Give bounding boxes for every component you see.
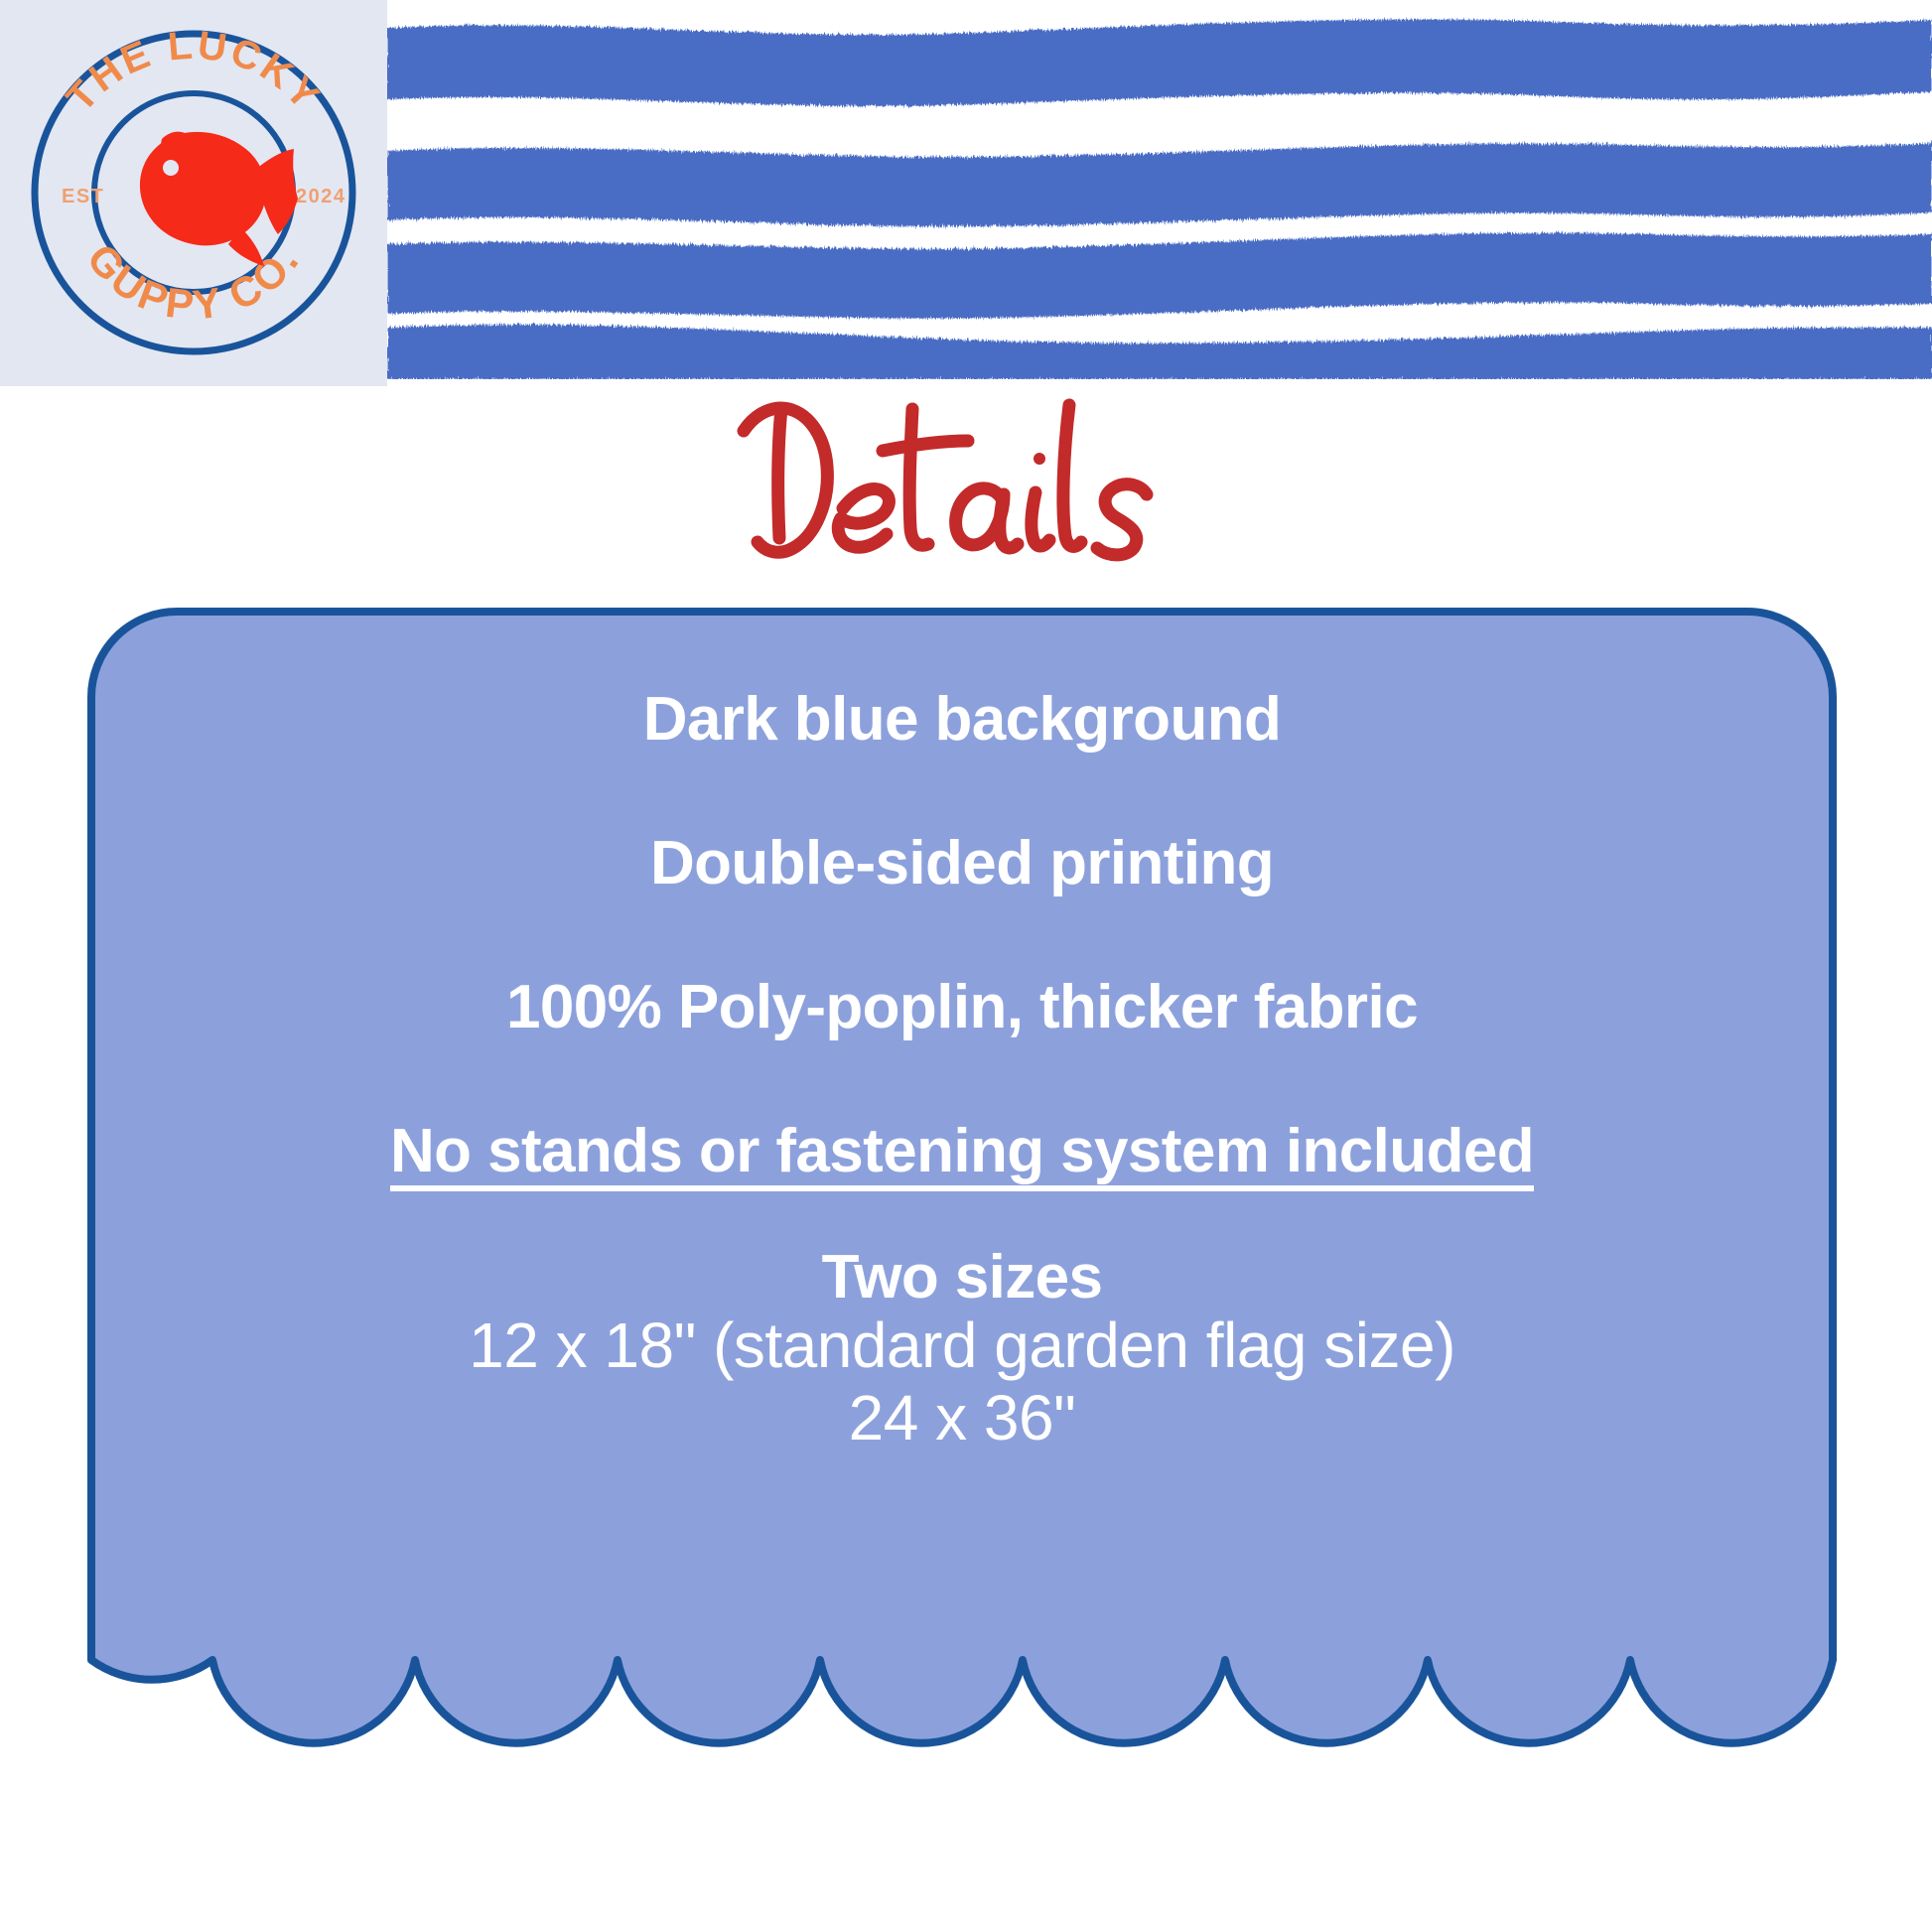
spec-item-no-stands: No stands or fastening system included xyxy=(105,1119,1819,1183)
card-content: Dark blue background Double-sided printi… xyxy=(87,608,1837,1844)
details-script-lettering xyxy=(744,405,1147,555)
sizes-title: Two sizes xyxy=(105,1247,1819,1309)
size-option-large: 24 x 36" xyxy=(105,1383,1819,1452)
product-detail-graphic: THE LUCKY GUPPY CO. EST 2024 xyxy=(0,0,1932,1932)
brand-logo-box: THE LUCKY GUPPY CO. EST 2024 xyxy=(0,0,387,386)
spec-item-fabric: 100% Poly-poplin, thicker fabric xyxy=(105,975,1819,1039)
size-option-small: 12 x 18" (standard garden flag size) xyxy=(105,1311,1819,1380)
logo-est-label: EST xyxy=(62,186,104,207)
stripe-1 xyxy=(387,19,1932,105)
spec-item-printing: Double-sided printing xyxy=(105,831,1819,896)
page-title xyxy=(0,369,1932,598)
spec-item-background: Dark blue background xyxy=(105,687,1819,752)
logo-year-label: 2024 xyxy=(296,186,346,207)
details-card: Dark blue background Double-sided printi… xyxy=(87,608,1837,1844)
stripe-2 xyxy=(387,143,1932,226)
striped-fabric-band xyxy=(387,0,1932,379)
